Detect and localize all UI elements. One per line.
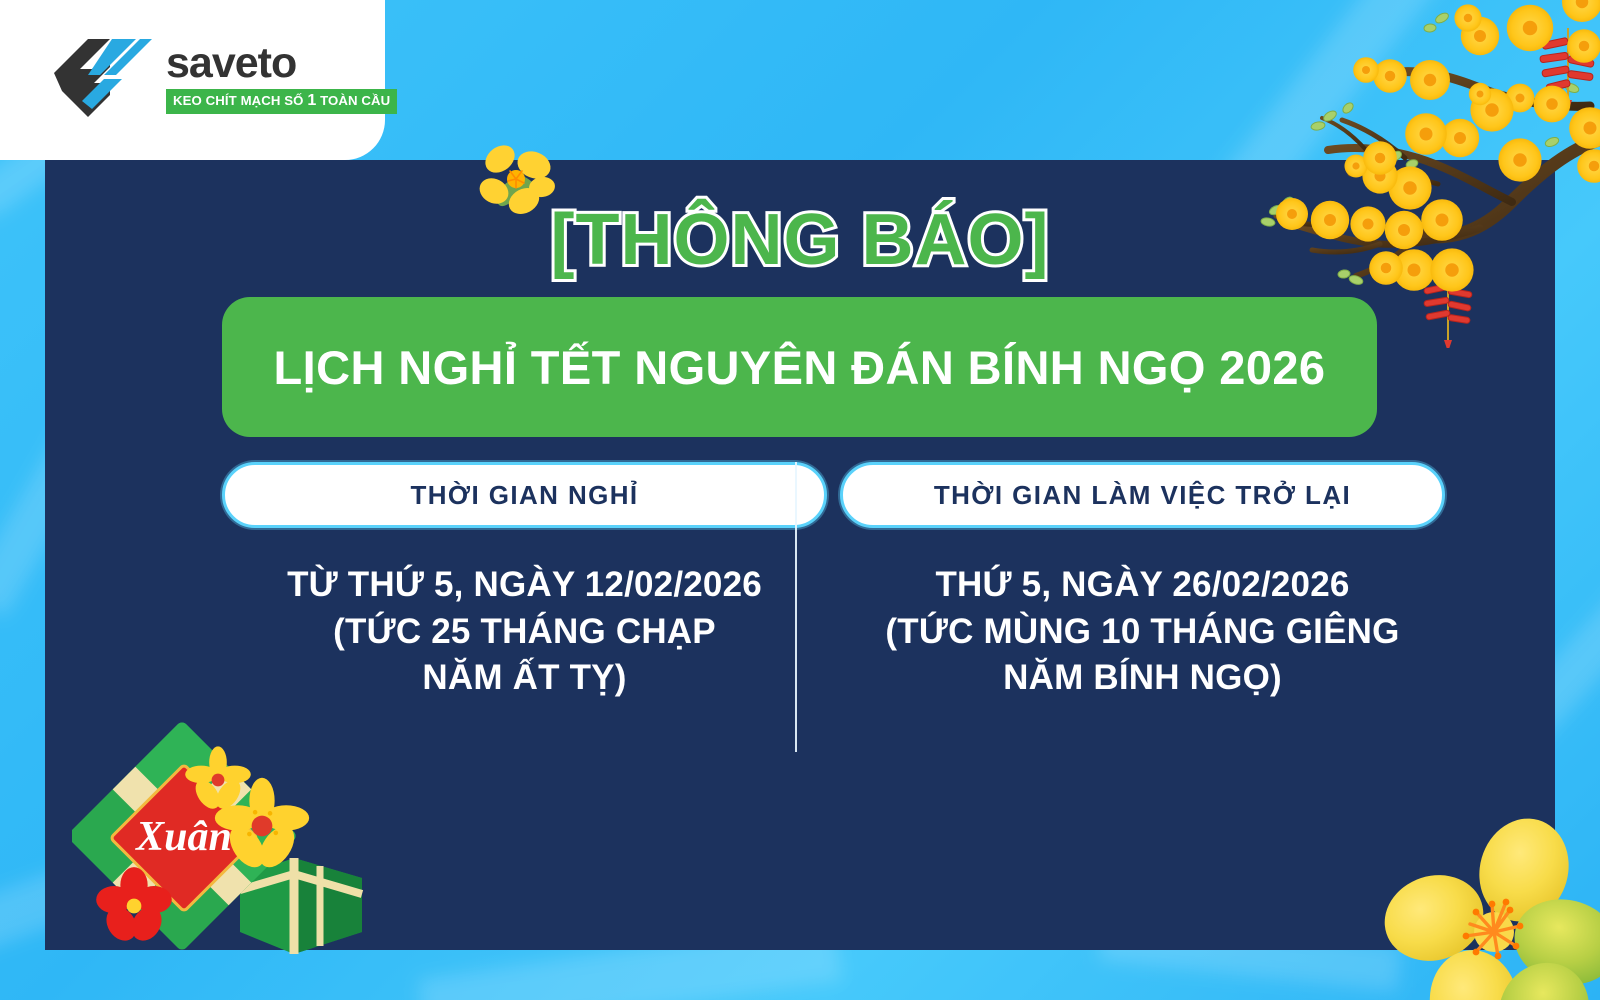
poster-canvas: saveto KEO CHÍT MẠCH SỐ 1 TOÀN CẦU [THÔN… [0,0,1600,1000]
notice-heading: [THÔNG BÁO] [551,199,1050,281]
return-line-2: (TỨC MÙNG 10 THÁNG GIÊNG [840,609,1445,656]
pill-leave-period: THỜI GIAN NGHỈ [222,462,827,528]
tagline-prefix: KEO CHÍT MẠCH SỐ [173,93,307,108]
schedule-columns: THỜI GIAN NGHỈ TỪ THỨ 5, NGÀY 12/02/2026… [45,462,1555,762]
return-period-detail: THỨ 5, NGÀY 26/02/2026 (TỨC MÙNG 10 THÁN… [840,562,1445,702]
return-line-3: NĂM BÍNH NGỌ) [840,655,1445,702]
leave-line-1: TỪ THỨ 5, NGÀY 12/02/2026 [222,562,827,609]
return-line-1: THỨ 5, NGÀY 26/02/2026 [840,562,1445,609]
tagline-number: 1 [307,92,316,109]
leave-period-detail: TỪ THỨ 5, NGÀY 12/02/2026 (TỨC 25 THÁNG … [222,562,827,702]
tagline-suffix: TOÀN CẦU [316,93,390,108]
pill-return-label: THỜI GIAN LÀM VIỆC TRỞ LẠI [934,480,1351,511]
brand-tagline: KEO CHÍT MẠCH SỐ 1 TOÀN CẦU [166,89,397,114]
column-return-period: THỜI GIAN LÀM VIỆC TRỞ LẠI THỨ 5, NGÀY 2… [840,462,1445,702]
column-leave-period: THỜI GIAN NGHỈ TỪ THỨ 5, NGÀY 12/02/2026… [222,462,827,702]
banner-title-bar: LỊCH NGHỈ TẾT NGUYÊN ĐÁN BÍNH NGỌ 2026 [222,297,1377,437]
saveto-chevron-logo-icon [48,37,152,119]
svg-text:saveto: saveto [166,42,296,86]
notice-heading-wrap: [THÔNG BÁO] [480,185,1120,295]
leave-line-2: (TỨC 25 THÁNG CHẠP [222,609,827,656]
brand-logo-plate: saveto KEO CHÍT MẠCH SỐ 1 TOÀN CẦU [0,0,385,160]
brand-wordmark: saveto [166,42,397,86]
leave-line-3: NĂM ẤT TỴ) [222,655,827,702]
pill-leave-label: THỜI GIAN NGHỈ [410,480,638,511]
column-divider [795,462,797,752]
banner-title: LỊCH NGHỈ TẾT NGUYÊN ĐÁN BÍNH NGỌ 2026 [274,340,1326,395]
pill-return-period: THỜI GIAN LÀM VIỆC TRỞ LẠI [840,462,1445,528]
